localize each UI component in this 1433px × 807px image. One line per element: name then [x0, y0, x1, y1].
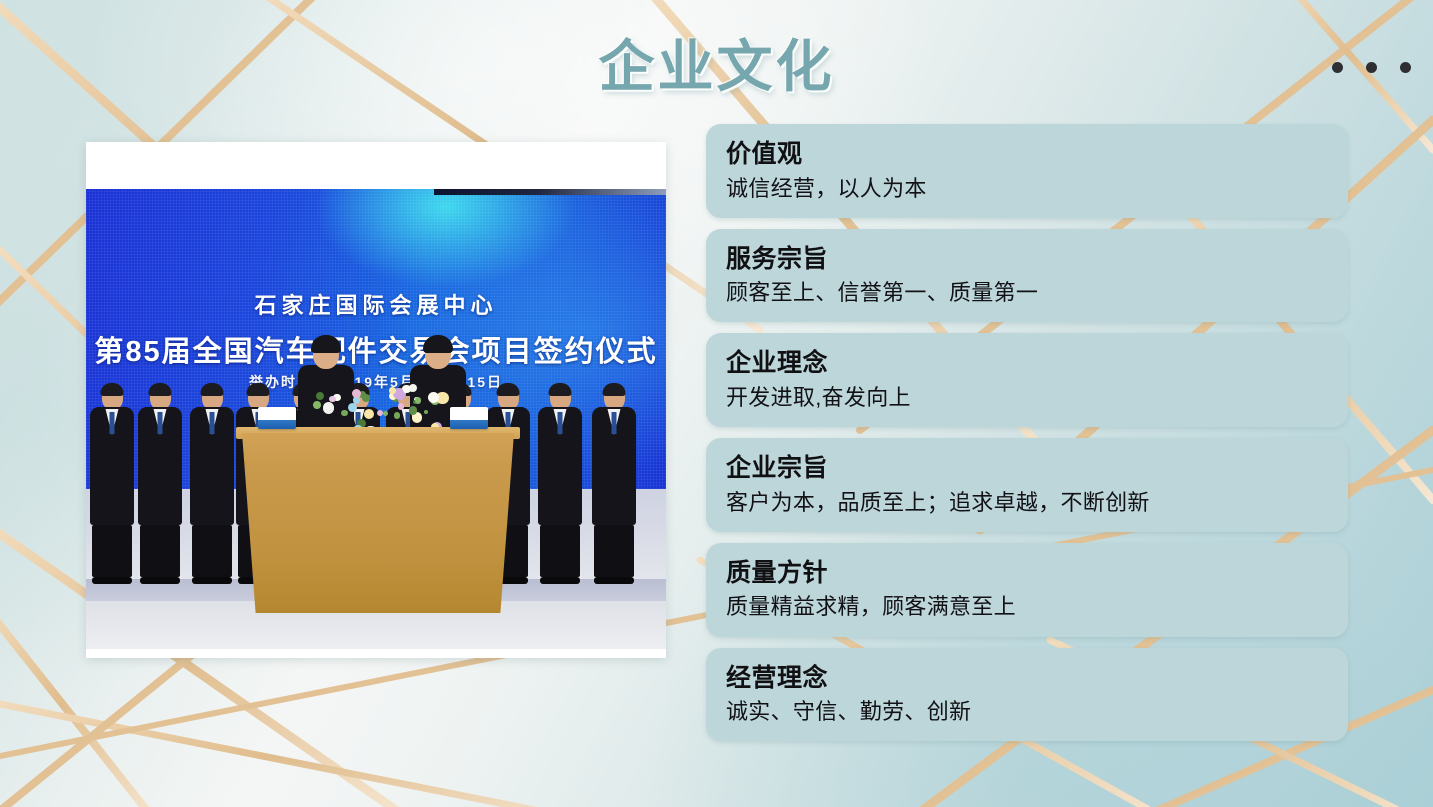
- culture-card[interactable]: 经营理念诚实、守信、勤劳、创新: [706, 648, 1348, 742]
- flower-bloom: [377, 410, 383, 416]
- flower-leaf: [313, 401, 321, 409]
- flower-leaf: [316, 392, 324, 400]
- culture-card-description: 客户为本，品质至上；追求卓越，不断创新: [726, 487, 1326, 518]
- person-tie: [158, 412, 163, 434]
- flower-bloom: [428, 392, 439, 403]
- person-legs: [92, 525, 132, 577]
- person-hair: [603, 383, 626, 396]
- photo-frame: 石家庄国际会展中心 第85届全国汽车配件交易会项目签约仪式 举办时间： 2019…: [86, 142, 666, 658]
- signing-table-skirt: [242, 433, 514, 613]
- culture-card[interactable]: 企业理念开发进取,奋发向上: [706, 333, 1348, 427]
- person-tie: [612, 412, 617, 434]
- culture-card[interactable]: 质量方针质量精益求精，顾客满意至上: [706, 543, 1348, 637]
- dot-icon: [1332, 62, 1343, 73]
- flower-leaf: [409, 406, 417, 414]
- flower-leaf: [424, 410, 428, 414]
- culture-card-list: 价值观诚信经营，以人为本服务宗旨顾客至上、信誉第一、质量第一企业理念开发进取,奋…: [706, 124, 1348, 752]
- person-body: [90, 407, 134, 525]
- person-tie: [210, 412, 215, 434]
- person-head: [313, 339, 339, 369]
- name-card-left: [258, 407, 296, 429]
- led-top-strip: [434, 189, 666, 195]
- dot-icon: [1366, 62, 1377, 73]
- person-body: [138, 407, 182, 525]
- person-head: [425, 339, 451, 369]
- culture-card-title: 质量方针: [726, 557, 1326, 591]
- person-hair: [549, 383, 572, 396]
- culture-card[interactable]: 价值观诚信经营，以人为本: [706, 124, 1348, 218]
- standing-attendee: [190, 385, 234, 577]
- standing-attendee: [138, 385, 182, 577]
- flower-bloom: [409, 384, 417, 392]
- banner-venue-text: 石家庄国际会展中心: [86, 288, 666, 320]
- flower-bloom: [329, 396, 335, 402]
- standing-attendee: [90, 385, 134, 577]
- culture-card-description: 诚实、守信、勤劳、创新: [726, 696, 1326, 727]
- flower-bloom: [389, 387, 395, 393]
- culture-card-title: 价值观: [726, 138, 1326, 172]
- culture-card-title: 经营理念: [726, 662, 1326, 696]
- title-bar: 企业文化: [0, 8, 1433, 100]
- person-body: [592, 407, 636, 525]
- culture-card-title: 企业理念: [726, 347, 1326, 381]
- decorative-dots: [1332, 62, 1411, 73]
- person-hair: [101, 383, 124, 396]
- culture-card[interactable]: 服务宗旨顾客至上、信誉第一、质量第一: [706, 229, 1348, 323]
- page-title: 企业文化: [0, 22, 1433, 103]
- culture-card-title: 企业宗旨: [726, 452, 1326, 486]
- dot-icon: [1400, 62, 1411, 73]
- culture-card-description: 诚信经营，以人为本: [726, 173, 1326, 204]
- flower-leaf: [394, 412, 401, 419]
- culture-card-title: 服务宗旨: [726, 243, 1326, 277]
- flower-leaf: [341, 410, 347, 416]
- person-legs: [594, 525, 634, 577]
- culture-card-description: 顾客至上、信誉第一、质量第一: [726, 277, 1326, 308]
- banner-main-text: 第85届全国汽车配件交易会项目签约仪式: [86, 328, 666, 370]
- flower-bloom: [348, 403, 357, 412]
- person-legs: [140, 525, 180, 577]
- signing-ceremony-photo: 石家庄国际会展中心 第85届全国汽车配件交易会项目签约仪式 举办时间： 2019…: [86, 189, 666, 649]
- person-legs: [540, 525, 580, 577]
- flower-bloom: [323, 402, 334, 413]
- culture-card-description: 质量精益求精，顾客满意至上: [726, 591, 1326, 622]
- standing-attendee: [592, 385, 636, 577]
- flower-bloom: [364, 409, 374, 419]
- person-legs: [192, 525, 232, 577]
- person-body: [538, 407, 582, 525]
- standing-attendee: [538, 385, 582, 577]
- name-card-right: [450, 407, 488, 429]
- culture-card[interactable]: 企业宗旨客户为本，品质至上；追求卓越，不断创新: [706, 438, 1348, 532]
- person-tie: [110, 412, 115, 434]
- person-hair: [497, 383, 520, 396]
- person-body: [190, 407, 234, 525]
- person-hair: [247, 383, 270, 396]
- person-hair: [201, 383, 224, 396]
- person-hair: [149, 383, 172, 396]
- flower-leaf: [383, 411, 388, 416]
- flower-bloom: [398, 403, 404, 409]
- culture-card-description: 开发进取,奋发向上: [726, 382, 1326, 413]
- flower-leaf: [415, 397, 422, 404]
- person-tie: [558, 412, 563, 434]
